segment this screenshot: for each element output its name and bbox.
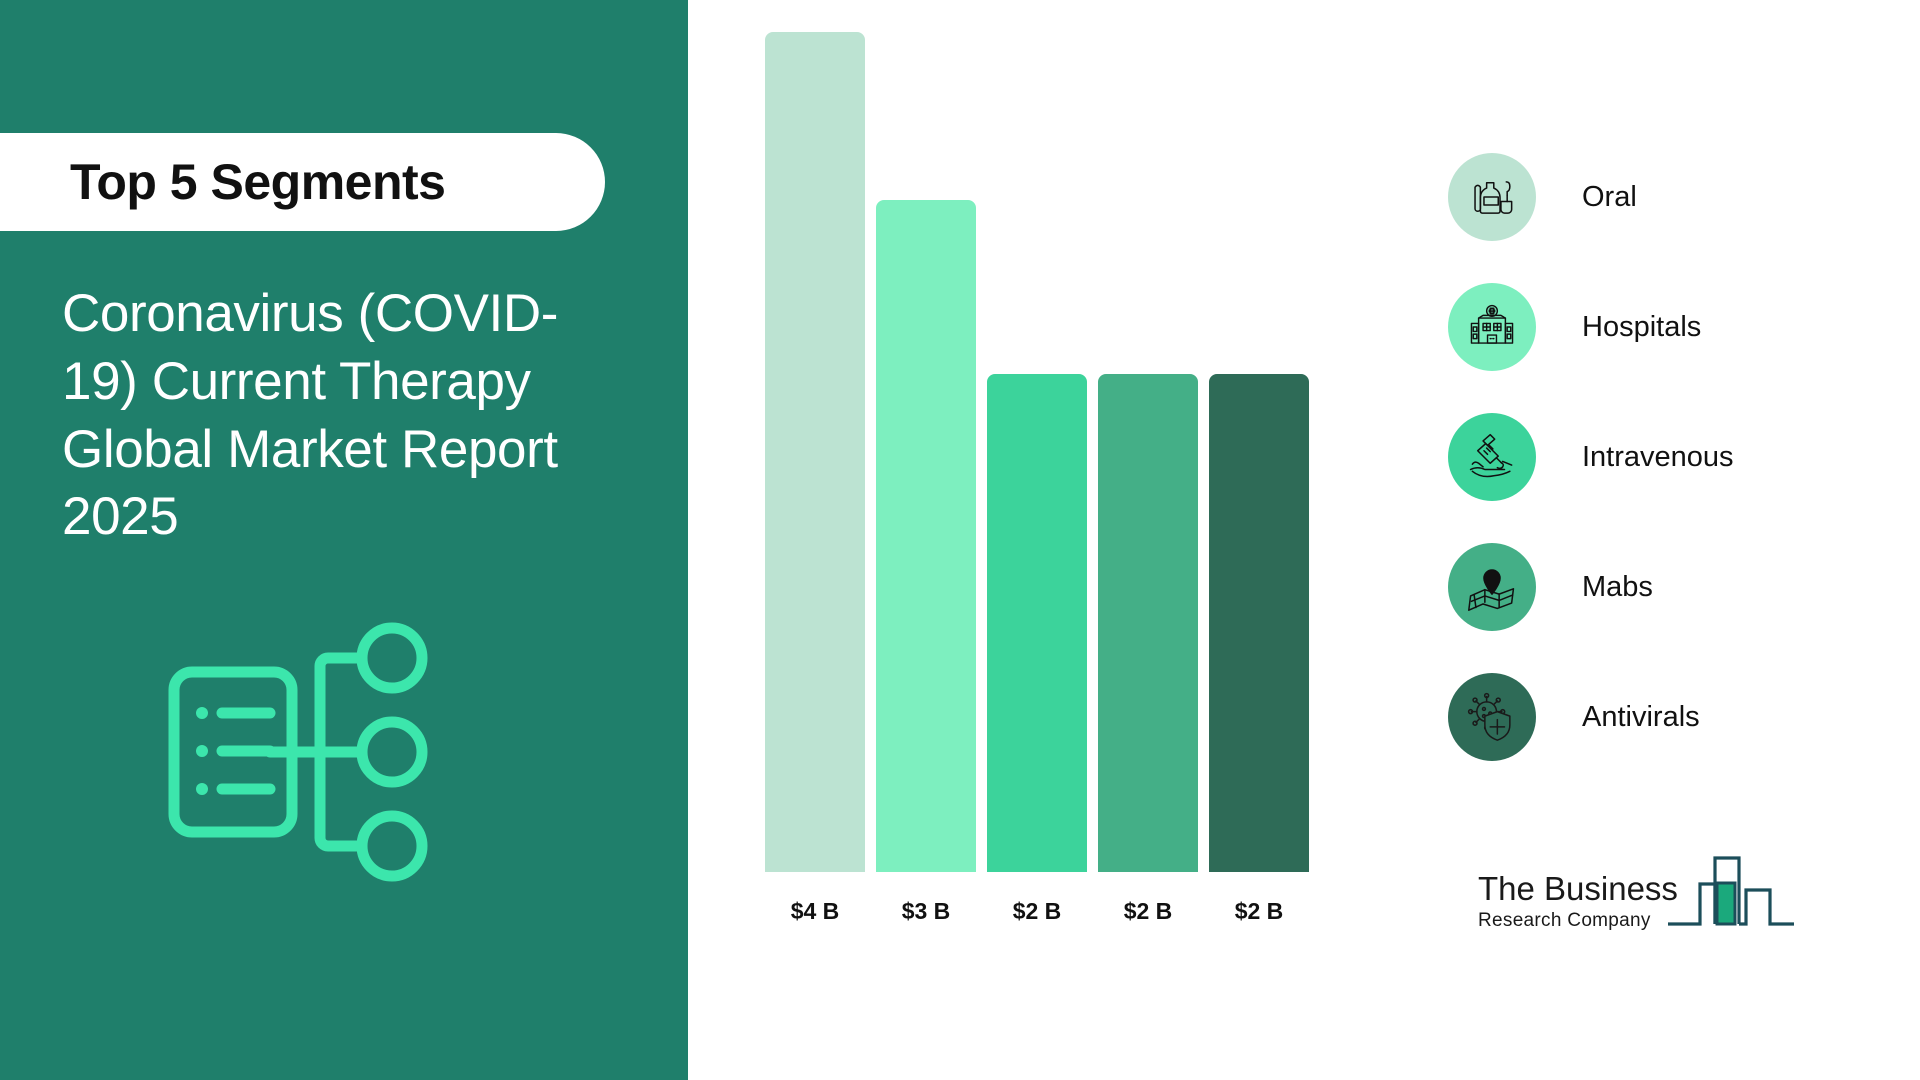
- dental-care-icon: [1448, 153, 1536, 241]
- bar-value-label: $2 B: [1098, 898, 1198, 925]
- bar-value-label: $4 B: [765, 898, 865, 925]
- legend-item-label: Antivirals: [1582, 701, 1700, 734]
- syringe-hand-icon: [1448, 413, 1536, 501]
- map-pin-icon: [1448, 543, 1536, 631]
- logo-wordmark: The Business Research Company: [1478, 872, 1678, 930]
- bar-column: [876, 200, 976, 872]
- legend-item: Hospitals: [1448, 262, 1878, 392]
- sidebar-panel: Top 5 Segments Coronavirus (COVID-19) Cu…: [0, 0, 688, 1080]
- legend-item: Antivirals: [1448, 652, 1878, 782]
- legend-item-label: Mabs: [1582, 571, 1653, 604]
- badge-pill: Top 5 Segments: [0, 133, 605, 231]
- legend-item: Oral: [1448, 132, 1878, 262]
- bar: [876, 200, 976, 872]
- legend-item-label: Hospitals: [1582, 311, 1701, 344]
- bar-value-label: $2 B: [1209, 898, 1309, 925]
- logo-line-1: The Business: [1478, 872, 1678, 905]
- legend-item: Intravenous: [1448, 392, 1878, 522]
- bar-column: [765, 32, 865, 872]
- badge-pill-label: Top 5 Segments: [70, 153, 445, 211]
- bar-column: [987, 374, 1087, 872]
- logo-bar-chart-mark: [1666, 852, 1796, 932]
- bar: [987, 374, 1087, 872]
- bar-value-label: $3 B: [876, 898, 976, 925]
- bar-column: [1098, 374, 1198, 872]
- page-title: Coronavirus (COVID-19) Current Therapy G…: [62, 280, 622, 551]
- legend-item: Mabs: [1448, 522, 1878, 652]
- bar: [1209, 374, 1309, 872]
- bar-chart-bars: [765, 0, 1310, 872]
- bar-value-label: $2 B: [987, 898, 1087, 925]
- bar: [1098, 374, 1198, 872]
- bar: [765, 32, 865, 872]
- legend-item-label: Intravenous: [1582, 441, 1734, 474]
- bar-column: [1209, 374, 1309, 872]
- virus-shield-icon: [1448, 673, 1536, 761]
- hospital-building-icon: [1448, 283, 1536, 371]
- infographic-canvas: Top 5 Segments Coronavirus (COVID-19) Cu…: [0, 0, 1920, 1080]
- legend: OralHospitalsIntravenousMabsAntivirals: [1448, 132, 1878, 782]
- logo-line-2: Research Company: [1478, 911, 1678, 930]
- bar-chart: $4 B$3 B$2 B$2 B$2 B: [765, 0, 1355, 1080]
- legend-item-label: Oral: [1582, 181, 1637, 214]
- document-list-branch-icon: [160, 610, 490, 940]
- company-logo: The Business Research Company: [1478, 862, 1808, 962]
